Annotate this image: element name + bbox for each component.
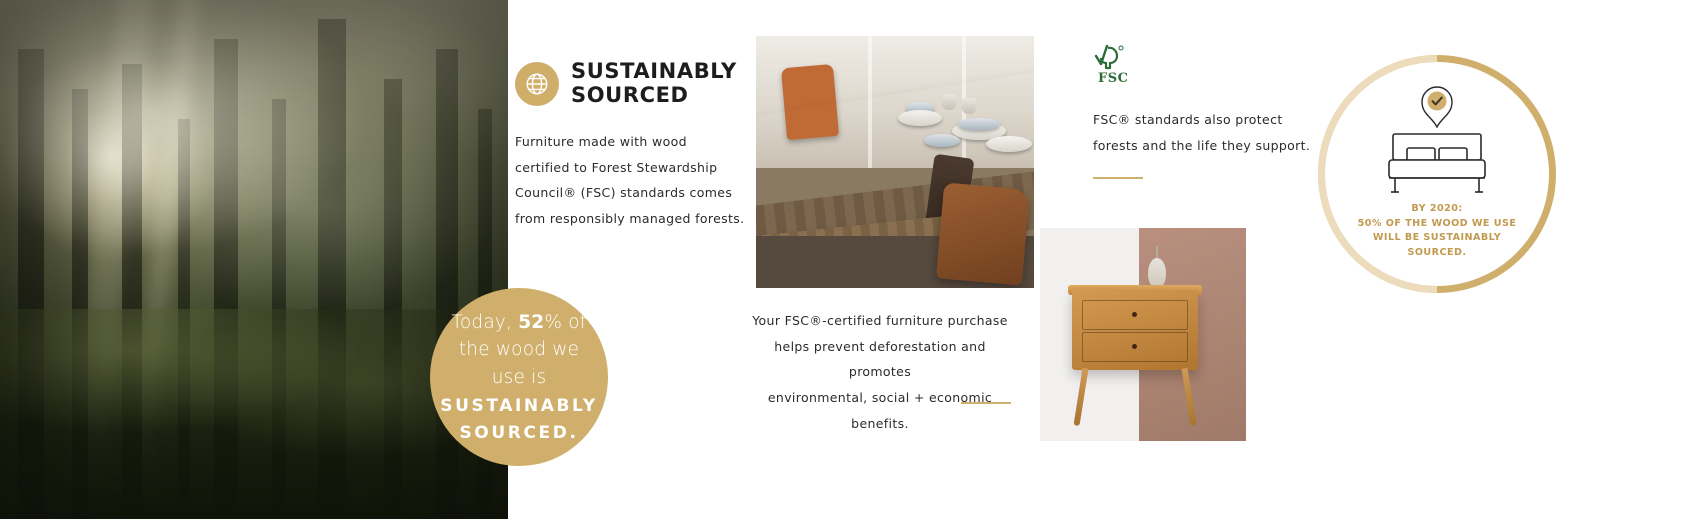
drawer-knob	[1132, 344, 1137, 349]
leather-chair	[936, 182, 1030, 285]
stat-suffix: of	[562, 312, 586, 333]
fsc-body-line: FSC® standards also protect	[1093, 107, 1313, 133]
goal-line: SOURCED.	[1358, 246, 1517, 261]
goal-badge-text: BY 2020: 50% OF THE WOOD WE USE WILL BE …	[1358, 202, 1517, 260]
plate	[986, 136, 1032, 152]
plate-stack	[958, 118, 1000, 130]
body-line: certified to Forest Stewardship	[515, 155, 745, 181]
body-line: from responsibly managed forests.	[515, 206, 745, 232]
mug	[962, 98, 976, 114]
center-copy-line: environmental, social + economic benefit…	[744, 385, 1016, 436]
sustainably-sourced-body: Furniture made with wood certified to Fo…	[515, 129, 745, 232]
stat-badge: Today, 52% of the wood we use is SUSTAIN…	[430, 288, 608, 466]
gold-divider	[1093, 177, 1143, 179]
goal-line: WILL BE SUSTAINABLY	[1358, 231, 1517, 246]
fsc-block: FSC FSC® standards also protect forests …	[1093, 42, 1313, 158]
body-line: Furniture made with wood	[515, 129, 745, 155]
stat-line-2: the wood we use is	[440, 336, 598, 392]
center-copy-line: helps prevent deforestation and promotes	[744, 334, 1016, 385]
goal-badge: BY 2020: 50% OF THE WOOD WE USE WILL BE …	[1318, 55, 1556, 293]
fsc-body: FSC® standards also protect forests and …	[1093, 107, 1313, 158]
globe-icon	[515, 62, 559, 106]
bowl	[924, 134, 960, 147]
drawer-knob	[1132, 312, 1137, 317]
page-title: SUSTAINABLY SOURCED	[571, 60, 737, 107]
svg-text:FSC: FSC	[1098, 71, 1127, 86]
stat-line-1: Today, 52% of	[440, 309, 598, 337]
bed-icon	[1385, 130, 1489, 196]
heading-line-2: SOURCED	[571, 84, 737, 108]
check-pin-icon	[1419, 84, 1455, 128]
center-copy-line: Your FSC®-certified furniture purchase	[744, 308, 1016, 334]
goal-line: 50% OF THE WOOD WE USE	[1358, 217, 1517, 232]
stat-unit: %	[544, 312, 562, 333]
sustainability-infographic: SUSTAINABLY SOURCED Furniture made with …	[0, 0, 1683, 519]
stat-badge-content: Today, 52% of the wood we use is SUSTAIN…	[424, 309, 614, 446]
stat-line-4: SOURCED.	[440, 421, 598, 446]
stat-prefix: Today,	[452, 312, 519, 333]
heading-line-1: SUSTAINABLY	[571, 60, 737, 84]
heading-row: SUSTAINABLY SOURCED	[515, 60, 745, 107]
goal-line: BY 2020:	[1358, 202, 1517, 217]
mug	[942, 94, 956, 110]
dining-table-photo	[756, 36, 1034, 288]
center-copy-block: Your FSC®-certified furniture purchase h…	[744, 308, 1016, 436]
gold-divider	[961, 402, 1011, 404]
goal-badge-content: BY 2020: 50% OF THE WOOD WE USE WILL BE …	[1325, 62, 1549, 286]
fsc-tree-checkmark-icon: FSC	[1093, 73, 1127, 90]
nightstand-photo	[1040, 228, 1246, 441]
sustainably-sourced-block: SUSTAINABLY SOURCED Furniture made with …	[515, 60, 745, 232]
fsc-body-line: forests and the life they support.	[1093, 133, 1313, 159]
glass-vase	[1148, 258, 1166, 288]
stat-value: 52	[518, 312, 544, 333]
stat-line-3: SUSTAINABLY	[440, 394, 598, 419]
plate	[898, 110, 942, 126]
body-line: Council® (FSC) standards comes	[515, 180, 745, 206]
